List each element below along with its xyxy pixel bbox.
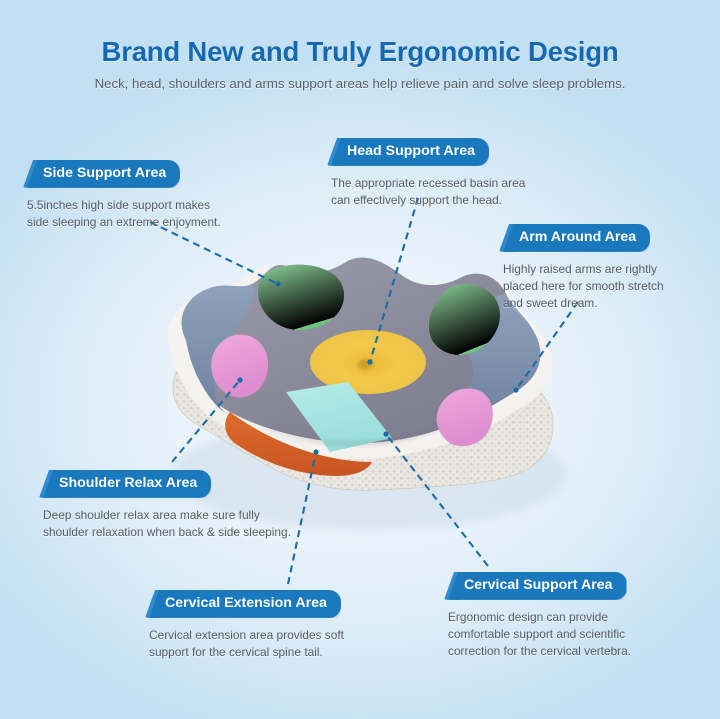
badge-cervical-extension[interactable]: Cervical Extension Area bbox=[149, 590, 341, 618]
pillow-top-surface bbox=[182, 258, 541, 444]
zone-cervical-support-cyan bbox=[286, 382, 392, 452]
badge-wrap-cervical-extension: Cervical Extension Area bbox=[149, 590, 341, 618]
head-basin-dimple bbox=[356, 358, 376, 374]
badge-wrap-head-support: Head Support Area bbox=[331, 138, 489, 166]
description-arm-around: Highly raised arms are rightly placed he… bbox=[503, 261, 664, 312]
head-basin-dimple-shadow bbox=[359, 359, 373, 368]
badge-wrap-arm-around: Arm Around Area bbox=[503, 224, 650, 252]
description-cervical-extension: Cervical extension area provides soft su… bbox=[149, 627, 344, 661]
connector-side-support bbox=[150, 222, 278, 284]
zone-side-support-green-right bbox=[429, 284, 500, 355]
connector-arm-around bbox=[516, 302, 578, 390]
arm-around-wall-right bbox=[455, 294, 540, 424]
zone-head-basin bbox=[310, 330, 426, 394]
badge-head-support[interactable]: Head Support Area bbox=[331, 138, 489, 166]
zone-shoulder-relax-pink-right bbox=[437, 388, 493, 446]
connector-head-support bbox=[370, 198, 418, 362]
zone-shoulder-relax-pink-left bbox=[211, 334, 268, 397]
badge-side-support[interactable]: Side Support Area bbox=[27, 160, 180, 188]
connector-dot-head-support bbox=[367, 359, 372, 364]
badge-cervical-support[interactable]: Cervical Support Area bbox=[448, 572, 627, 600]
infographic-canvas: Brand New and Truly Ergonomic Design Nec… bbox=[0, 0, 720, 719]
description-side-support: 5.5inches high side support makes side s… bbox=[27, 197, 221, 231]
badge-shoulder-relax[interactable]: Shoulder Relax Area bbox=[43, 470, 211, 498]
description-shoulder-relax: Deep shoulder relax area make sure fully… bbox=[43, 507, 291, 541]
connector-dot-arm-around bbox=[513, 387, 518, 392]
connector-dot-cervical-support bbox=[383, 431, 388, 436]
callout-cervical-extension: Cervical Extension Area Cervical extensi… bbox=[149, 590, 344, 661]
badge-wrap-cervical-support: Cervical Support Area bbox=[448, 572, 627, 600]
page-title: Brand New and Truly Ergonomic Design bbox=[0, 36, 720, 68]
badge-arm-around[interactable]: Arm Around Area bbox=[503, 224, 650, 252]
connector-dot-cervical-extension bbox=[313, 449, 318, 454]
page-subtitle: Neck, head, shoulders and arms support a… bbox=[0, 76, 720, 91]
description-cervical-support: Ergonomic design can provide comfortable… bbox=[448, 609, 631, 660]
connector-dot-side-support bbox=[275, 281, 280, 286]
connector-cervical-extension bbox=[288, 452, 316, 584]
connector-cervical-support bbox=[386, 434, 488, 566]
callout-head-support: Head Support Area The appropriate recess… bbox=[331, 138, 525, 209]
connector-shoulder-relax bbox=[172, 380, 240, 462]
badge-wrap-side-support: Side Support Area bbox=[27, 160, 180, 188]
pillow-rim bbox=[168, 264, 552, 459]
side-support-wall-left bbox=[182, 284, 253, 416]
callout-side-support: Side Support Area 5.5inches high side su… bbox=[27, 160, 221, 231]
badge-wrap-shoulder-relax: Shoulder Relax Area bbox=[43, 470, 211, 498]
pillow-shading bbox=[230, 412, 448, 445]
description-head-support: The appropriate recessed basin area can … bbox=[331, 175, 525, 209]
zone-side-support-green-left bbox=[258, 265, 344, 330]
callout-cervical-support: Cervical Support Area Ergonomic design c… bbox=[448, 572, 631, 660]
connector-dot-shoulder-relax bbox=[237, 377, 242, 382]
callout-shoulder-relax: Shoulder Relax Area Deep shoulder relax … bbox=[43, 470, 291, 541]
callout-arm-around: Arm Around Area Highly raised arms are r… bbox=[503, 224, 664, 312]
zone-cervical-extension-orange bbox=[225, 412, 372, 476]
